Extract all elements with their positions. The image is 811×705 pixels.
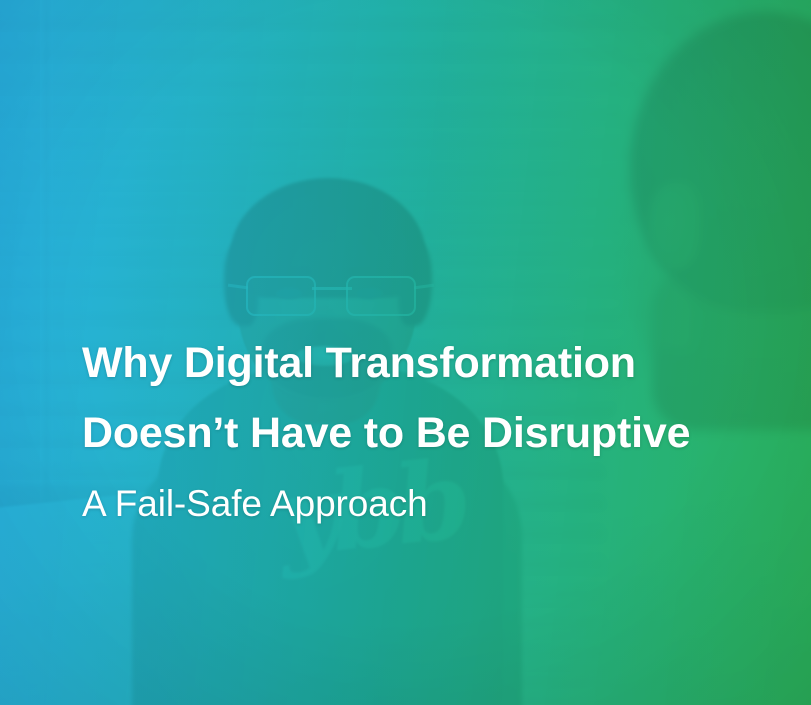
headline-line-2: Doesn’t Have to Be Disruptive <box>82 398 742 468</box>
subheadline: A Fail-Safe Approach <box>82 468 742 526</box>
hero-text-block: Why Digital Transformation Doesn’t Have … <box>82 328 742 526</box>
headline-line-1: Why Digital Transformation <box>82 328 742 398</box>
hero-banner: ybb <box>0 0 811 705</box>
